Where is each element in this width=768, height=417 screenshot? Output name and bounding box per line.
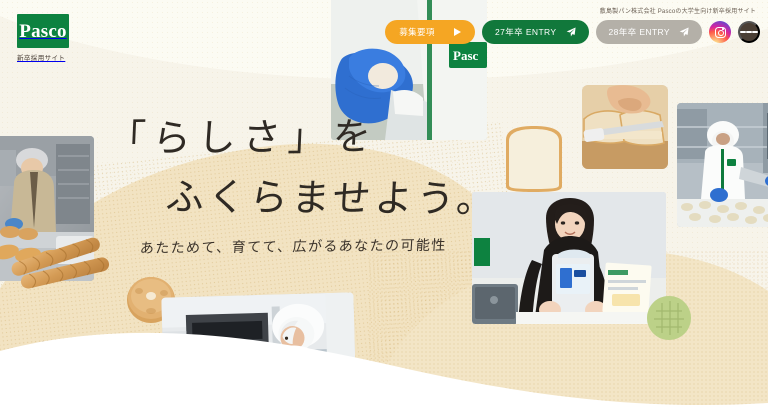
logo-wordmark: Pasco: [19, 22, 66, 41]
hamburger-bar-3: [752, 31, 758, 32]
recruitment-guidelines-button[interactable]: 募集要項: [385, 20, 475, 44]
paper-plane-icon: [679, 27, 689, 37]
site-header: Pasco 新卒採用サイト 敷島製パン株式会社 Pascoの大学生向け新卒採用サ…: [0, 0, 768, 52]
logo-mark: Pasco: [17, 14, 69, 48]
instagram-icon[interactable]: [709, 21, 731, 43]
bottom-wave: [0, 307, 768, 417]
entry-2027-button[interactable]: 27年卒 ENTRY: [482, 20, 588, 44]
site-tagline: 敷島製パン株式会社 Pascoの大学生向け新卒採用サイト: [600, 6, 756, 15]
recruitment-guidelines-label: 募集要項: [399, 26, 435, 38]
entry-2028-button[interactable]: 28年卒 ENTRY: [596, 20, 702, 44]
hamburger-menu-button[interactable]: [738, 21, 760, 43]
twist-bread-decor: [0, 234, 112, 294]
photo-employee-woman: [472, 192, 666, 324]
photo-factory-worker: [677, 103, 768, 227]
entry-2028-label: 28年卒 ENTRY: [609, 26, 670, 38]
site-logo[interactable]: Pasco 新卒採用サイト: [17, 14, 77, 62]
header-nav: 募集要項 27年卒 ENTRY 28年卒 ENTRY: [385, 20, 760, 44]
hero-stage: Pasc: [0, 0, 768, 417]
entry-2027-label: 27年卒 ENTRY: [495, 26, 556, 38]
paper-plane-icon: [566, 27, 576, 37]
bread-slice-decor: [498, 122, 570, 194]
instagram-glyph: [715, 27, 726, 38]
logo-subtitle: 新卒採用サイト: [17, 52, 77, 62]
play-icon: [453, 28, 461, 36]
photo-bread-slicing: [582, 85, 668, 169]
